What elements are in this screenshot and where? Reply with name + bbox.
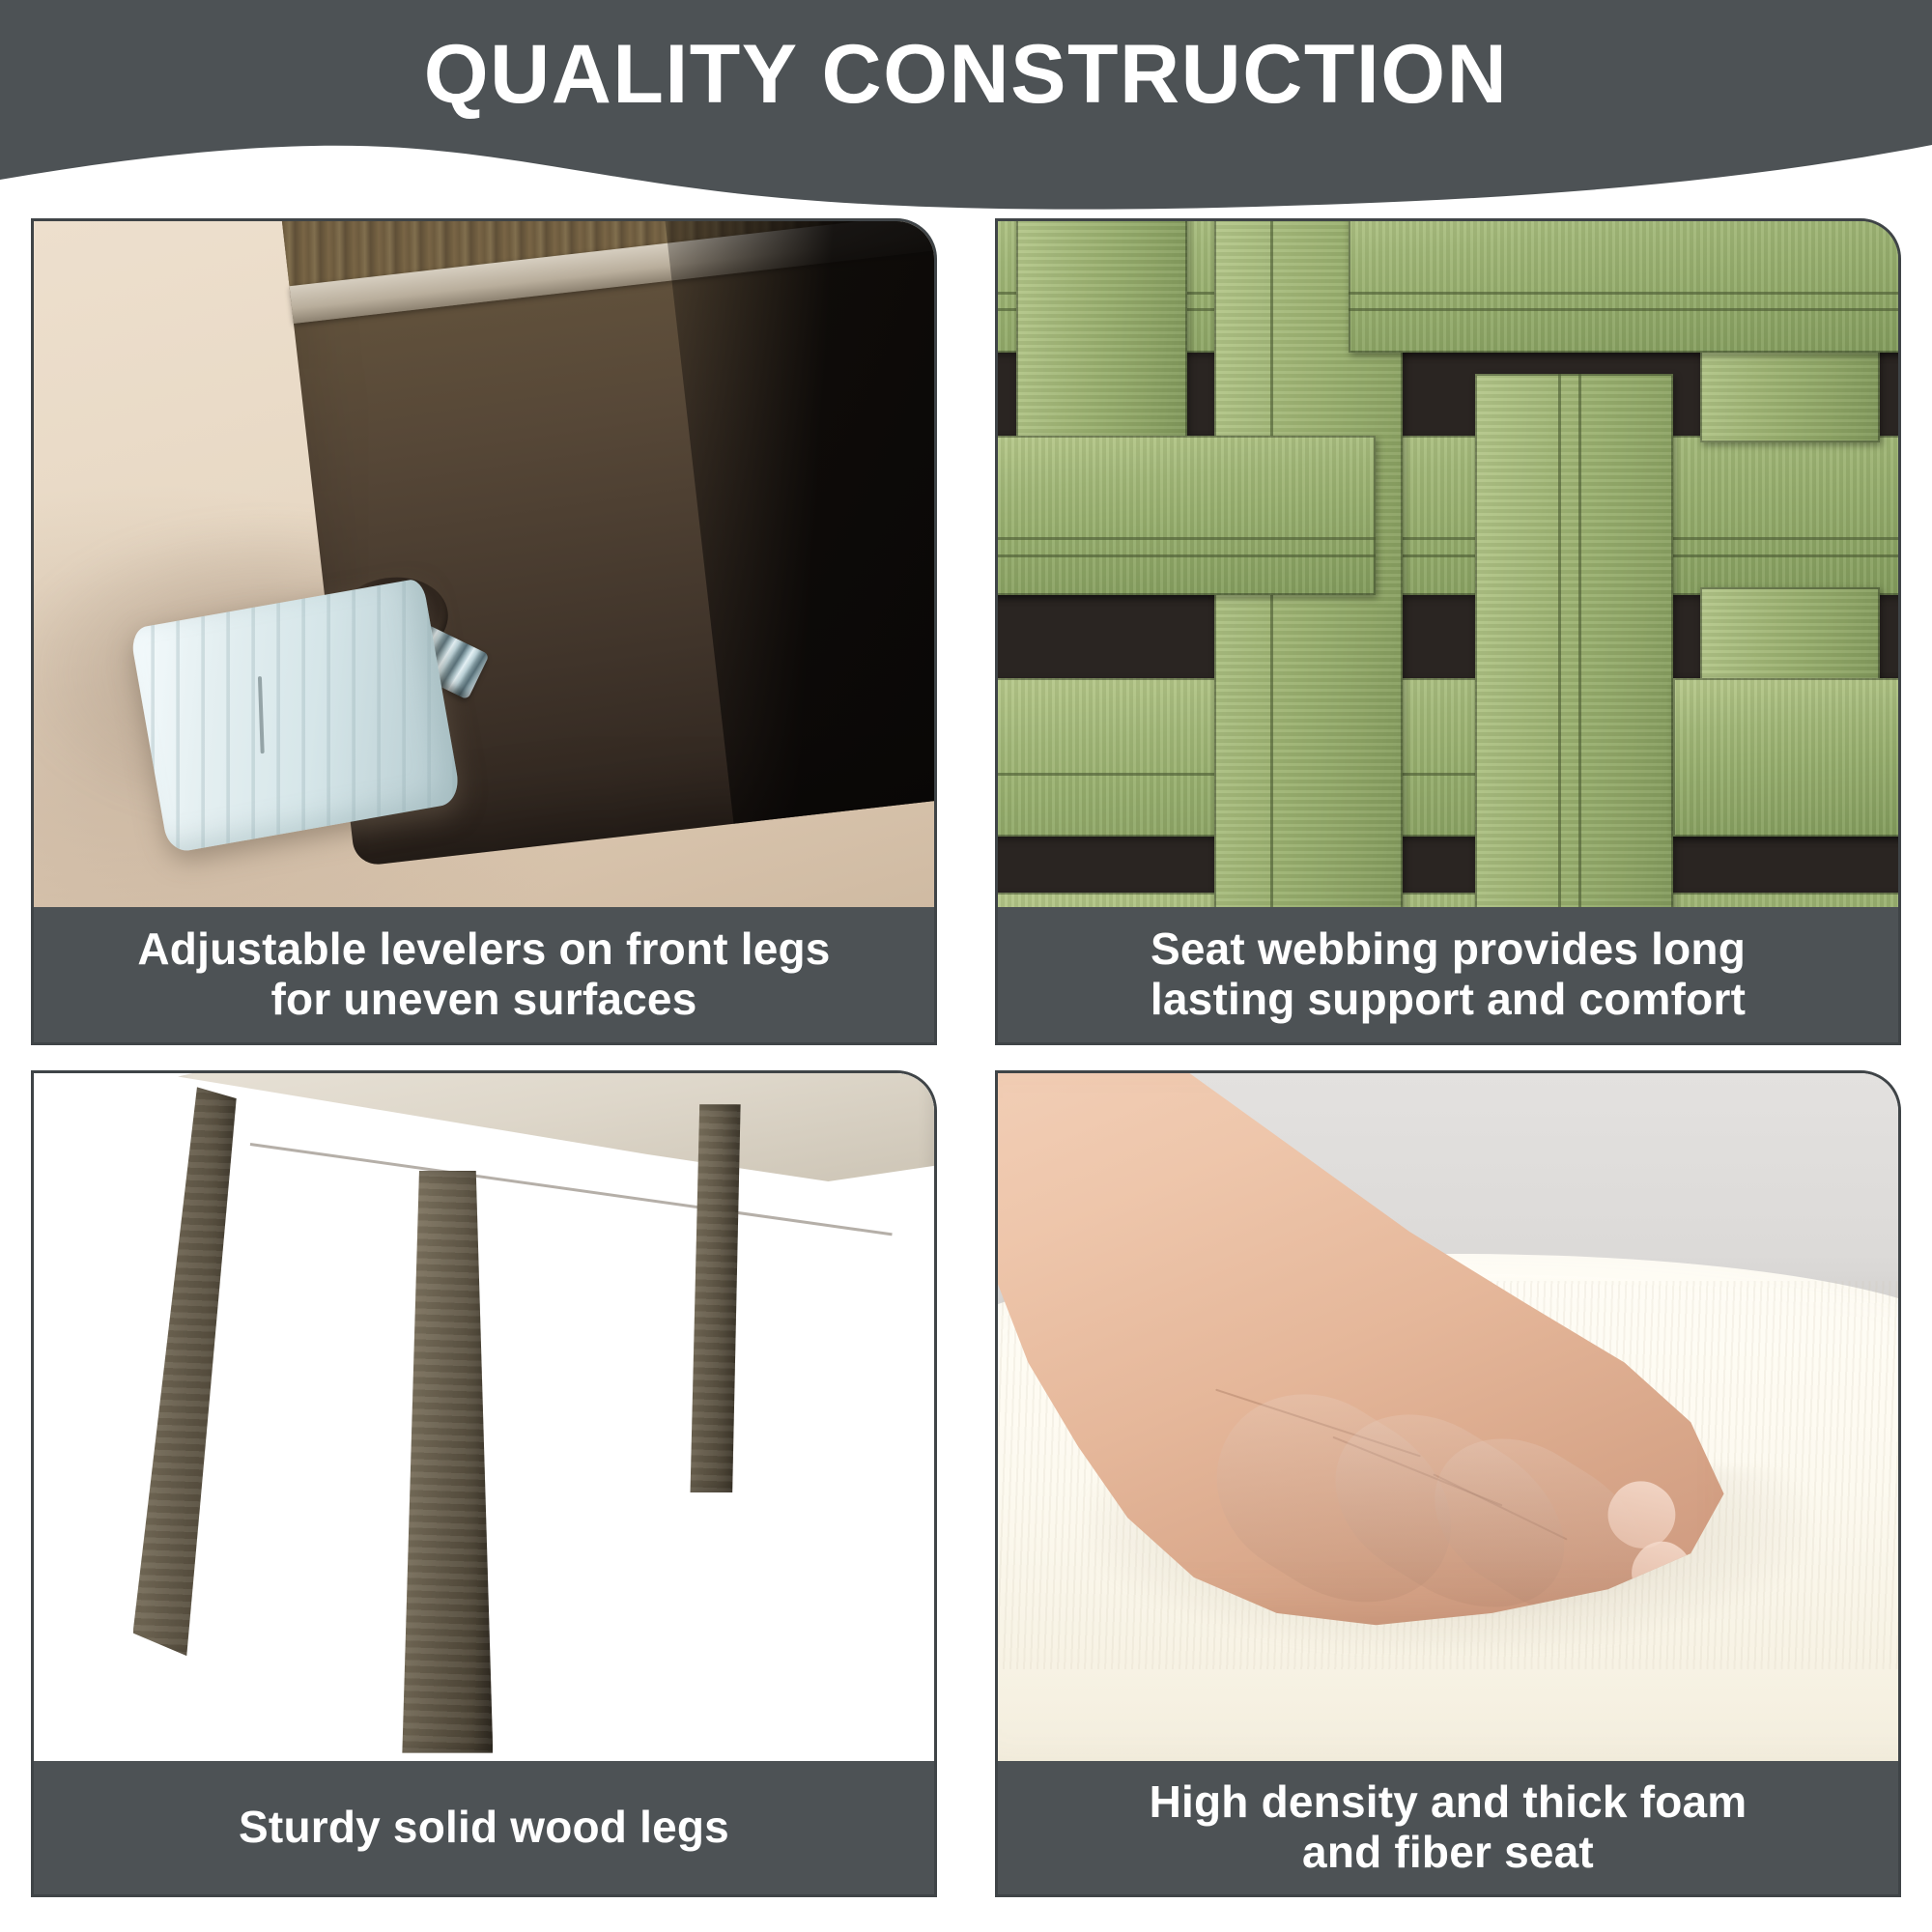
page-title: QUALITY CONSTRUCTION bbox=[0, 33, 1932, 116]
photo-solid-wood-legs bbox=[34, 1073, 934, 1767]
webbing-strap-v1 bbox=[1016, 221, 1187, 442]
feature-card-solid-wood-legs: Sturdy solid wood legs bbox=[31, 1070, 937, 1897]
caption-line-1: High density and thick foam bbox=[1150, 1777, 1747, 1828]
caption-line-2: lasting support and comfort bbox=[1151, 975, 1746, 1025]
webbing-strap-v3 bbox=[1475, 374, 1673, 913]
webbing-strap-h2-over bbox=[998, 436, 1376, 595]
caption-line-1: Sturdy solid wood legs bbox=[239, 1803, 729, 1853]
webbing-strap-h3-over bbox=[1673, 678, 1898, 838]
header-banner: QUALITY CONSTRUCTION bbox=[0, 0, 1932, 222]
caption-line-2: for uneven surfaces bbox=[271, 975, 697, 1025]
photo-high-density-foam bbox=[998, 1073, 1898, 1767]
caption-adjustable-levelers: Adjustable levelers on front legs for un… bbox=[34, 907, 934, 1042]
caption-high-density-foam: High density and thick foam and fiber se… bbox=[998, 1761, 1898, 1894]
caption-seat-webbing: Seat webbing provides long lasting suppo… bbox=[998, 907, 1898, 1042]
photo-adjustable-levelers bbox=[34, 221, 934, 913]
feature-card-high-density-foam: High density and thick foam and fiber se… bbox=[995, 1070, 1901, 1897]
caption-line-1: Adjustable levelers on front legs bbox=[137, 924, 830, 975]
photo-seat-webbing bbox=[998, 221, 1898, 913]
webbing-strap-h1-over bbox=[1349, 221, 1898, 353]
feature-grid: Adjustable levelers on front legs for un… bbox=[0, 218, 1932, 1932]
caption-line-2: and fiber seat bbox=[1302, 1828, 1594, 1878]
caption-line-1: Seat webbing provides long bbox=[1151, 924, 1746, 975]
caption-solid-wood-legs: Sturdy solid wood legs bbox=[34, 1761, 934, 1894]
feature-card-adjustable-levelers: Adjustable levelers on front legs for un… bbox=[31, 218, 937, 1045]
feature-card-seat-webbing: Seat webbing provides long lasting suppo… bbox=[995, 218, 1901, 1045]
wood-shadow-face bbox=[655, 221, 934, 824]
